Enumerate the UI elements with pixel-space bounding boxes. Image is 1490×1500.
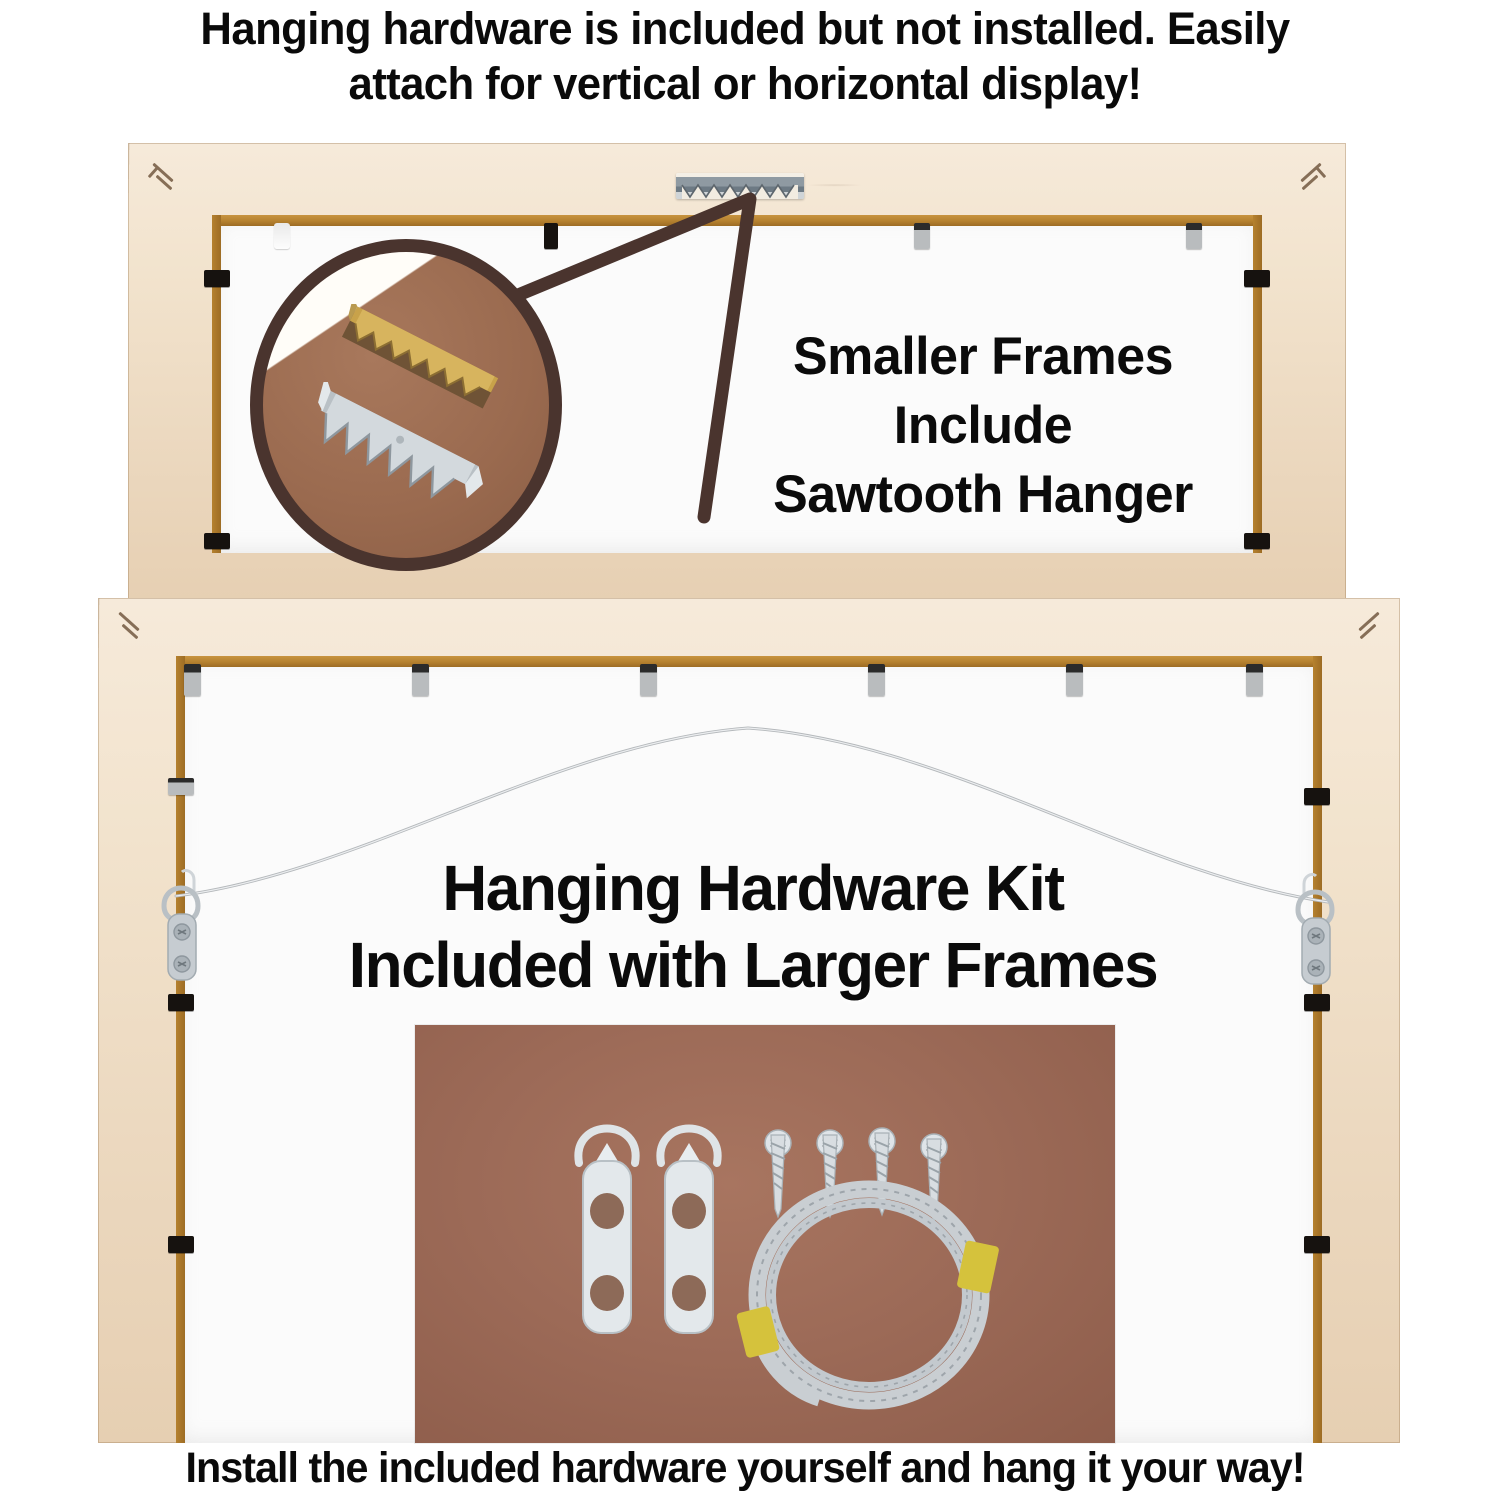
backing-clip [868,664,885,696]
kit-contents-illustration [415,1025,1115,1443]
backing-clip [1304,1236,1330,1253]
backing-clip [204,270,230,287]
d-ring-hanger-right [1276,870,1356,1000]
backing-clip [168,778,194,795]
backing-clip [204,533,230,549]
backing-clip [1244,270,1270,287]
smaller-frames-line-3: Sawtooth Hanger [694,461,1272,530]
backing-clip [1066,664,1083,696]
sawtooth-teeth-icon [676,173,804,199]
backing-clip [544,223,558,249]
smaller-frames-line-1: Smaller Frames [694,323,1272,392]
larger-frames-overlay-text: Hanging Hardware Kit Included with Large… [234,850,1272,1004]
backing-clip [1246,664,1263,696]
infographic-canvas: Hanging hardware is included but not ins… [0,0,1490,1500]
larger-frames-line-2: Included with Larger Frames [234,927,1272,1004]
backing-clip [168,1236,194,1253]
header-text: Hanging hardware is included but not ins… [22,2,1467,112]
d-ring-hanger-icon [578,1129,635,1334]
silver-sawtooth-hanger-icon [281,382,501,542]
frame-rabbet-right [1313,656,1322,1443]
corner-staple-top-right [1290,161,1324,191]
screw-icon [765,1130,791,1217]
frame-rabbet-left [212,215,221,553]
larger-frames-line-1: Hanging Hardware Kit [234,850,1272,927]
corner-staple-top-right [1348,610,1382,640]
frame-rabbet-top [176,656,1322,667]
corner-staple-top-left [150,161,184,191]
smaller-frames-line-2: Include [694,392,1272,461]
backing-clip [1186,223,1202,249]
frame-rabbet-top [212,215,1262,226]
larger-frame-back: Hanging Hardware Kit Included with Large… [98,598,1400,1443]
smaller-frames-overlay-text: Smaller Frames Include Sawtooth Hanger [694,323,1272,530]
header-line-2: attach for vertical or horizontal displa… [36,57,1454,112]
backing-clip [1244,533,1270,549]
smaller-frame-back: Smaller Frames Include Sawtooth Hanger [128,143,1346,611]
backing-clip [274,223,290,249]
sawtooth-hanger-installed [676,173,804,199]
corner-staple-top-left [116,610,150,640]
header-line-1: Hanging hardware is included but not ins… [36,2,1454,57]
sawtooth-closeup-callout [250,239,562,571]
d-ring-hanger-icon [660,1129,717,1334]
backing-clip [914,223,930,249]
backing-clip [184,664,201,696]
backing-clip [640,664,657,696]
d-ring-hanger-left [142,866,222,996]
backing-clip [412,664,429,696]
coiled-hanging-wire-icon [736,1189,1000,1401]
backing-clip [168,994,194,1011]
backing-clip [1304,788,1330,805]
frame-rabbet-left [176,656,185,1443]
hanging-hardware-kit-photo [415,1025,1115,1443]
footer-caption: Install the included hardware yourself a… [30,1445,1460,1492]
